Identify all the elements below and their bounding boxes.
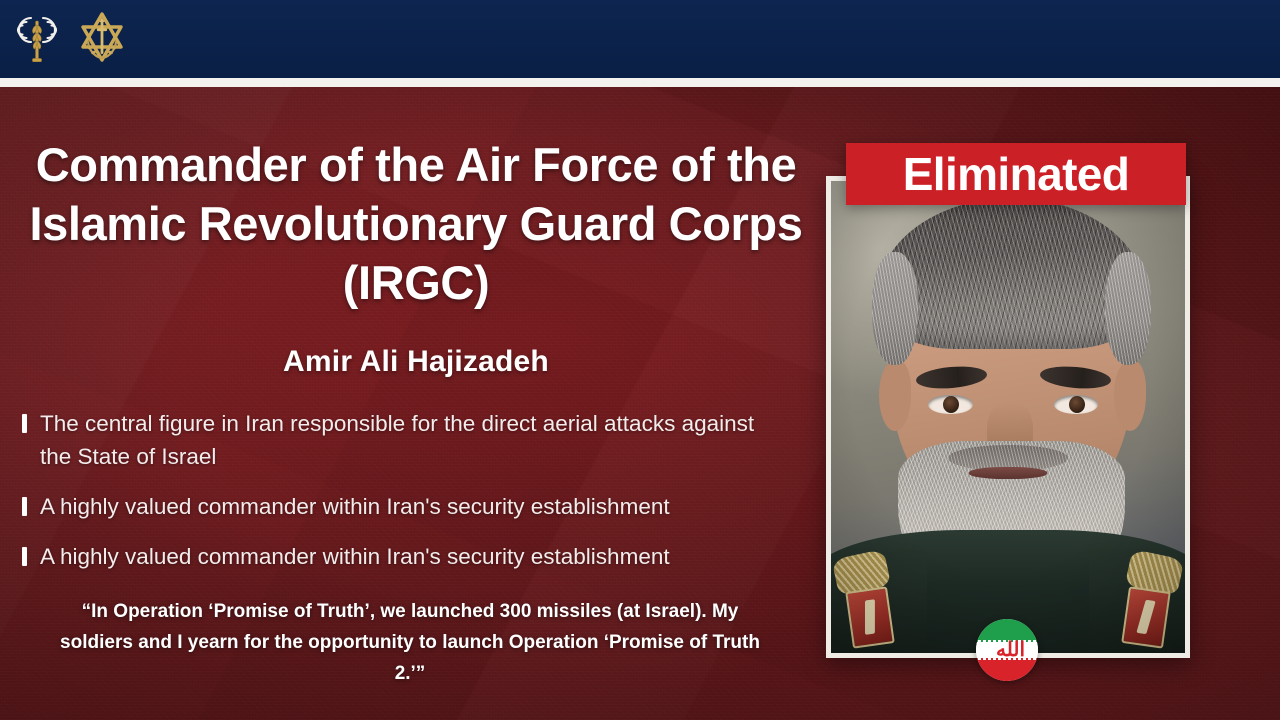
list-item: The central figure in Iran responsible f… bbox=[22, 407, 792, 473]
list-item: A highly valued commander within Iran's … bbox=[22, 540, 792, 573]
header-logo-group bbox=[12, 8, 132, 70]
status-badge-label: Eliminated bbox=[903, 151, 1130, 197]
portrait-frame bbox=[826, 176, 1190, 658]
quotation-text: “In Operation ‘Promise of Truth’, we lau… bbox=[60, 597, 760, 689]
header-separator bbox=[0, 78, 1280, 87]
bullet-marker-icon bbox=[22, 497, 27, 516]
bullet-text: A highly valued commander within Iran's … bbox=[40, 540, 670, 573]
idf-spokesperson-logo bbox=[12, 9, 62, 70]
list-item: A highly valued commander within Iran's … bbox=[22, 490, 792, 523]
bullet-text: A highly valued commander within Iran's … bbox=[40, 490, 670, 523]
content-column: Commander of the Air Force of the Islami… bbox=[0, 87, 820, 720]
bullet-list: The central figure in Iran responsible f… bbox=[22, 407, 792, 590]
page-title: Commander of the Air Force of the Islami… bbox=[24, 135, 808, 313]
idf-emblem-logo bbox=[72, 8, 132, 71]
slide-root: Commander of the Air Force of the Islami… bbox=[0, 0, 1280, 720]
status-badge: Eliminated bbox=[846, 143, 1186, 205]
bullet-marker-icon bbox=[22, 547, 27, 566]
subject-name: Amir Ali Hajizadeh bbox=[24, 345, 808, 379]
bullet-text: The central figure in Iran responsible f… bbox=[40, 407, 760, 473]
header-bar bbox=[0, 0, 1280, 78]
bullet-marker-icon bbox=[22, 414, 27, 433]
iran-flag-circle-icon: الله bbox=[976, 619, 1038, 681]
iran-emblem-glyph: الله bbox=[996, 640, 1018, 660]
portrait-photo bbox=[831, 181, 1185, 653]
